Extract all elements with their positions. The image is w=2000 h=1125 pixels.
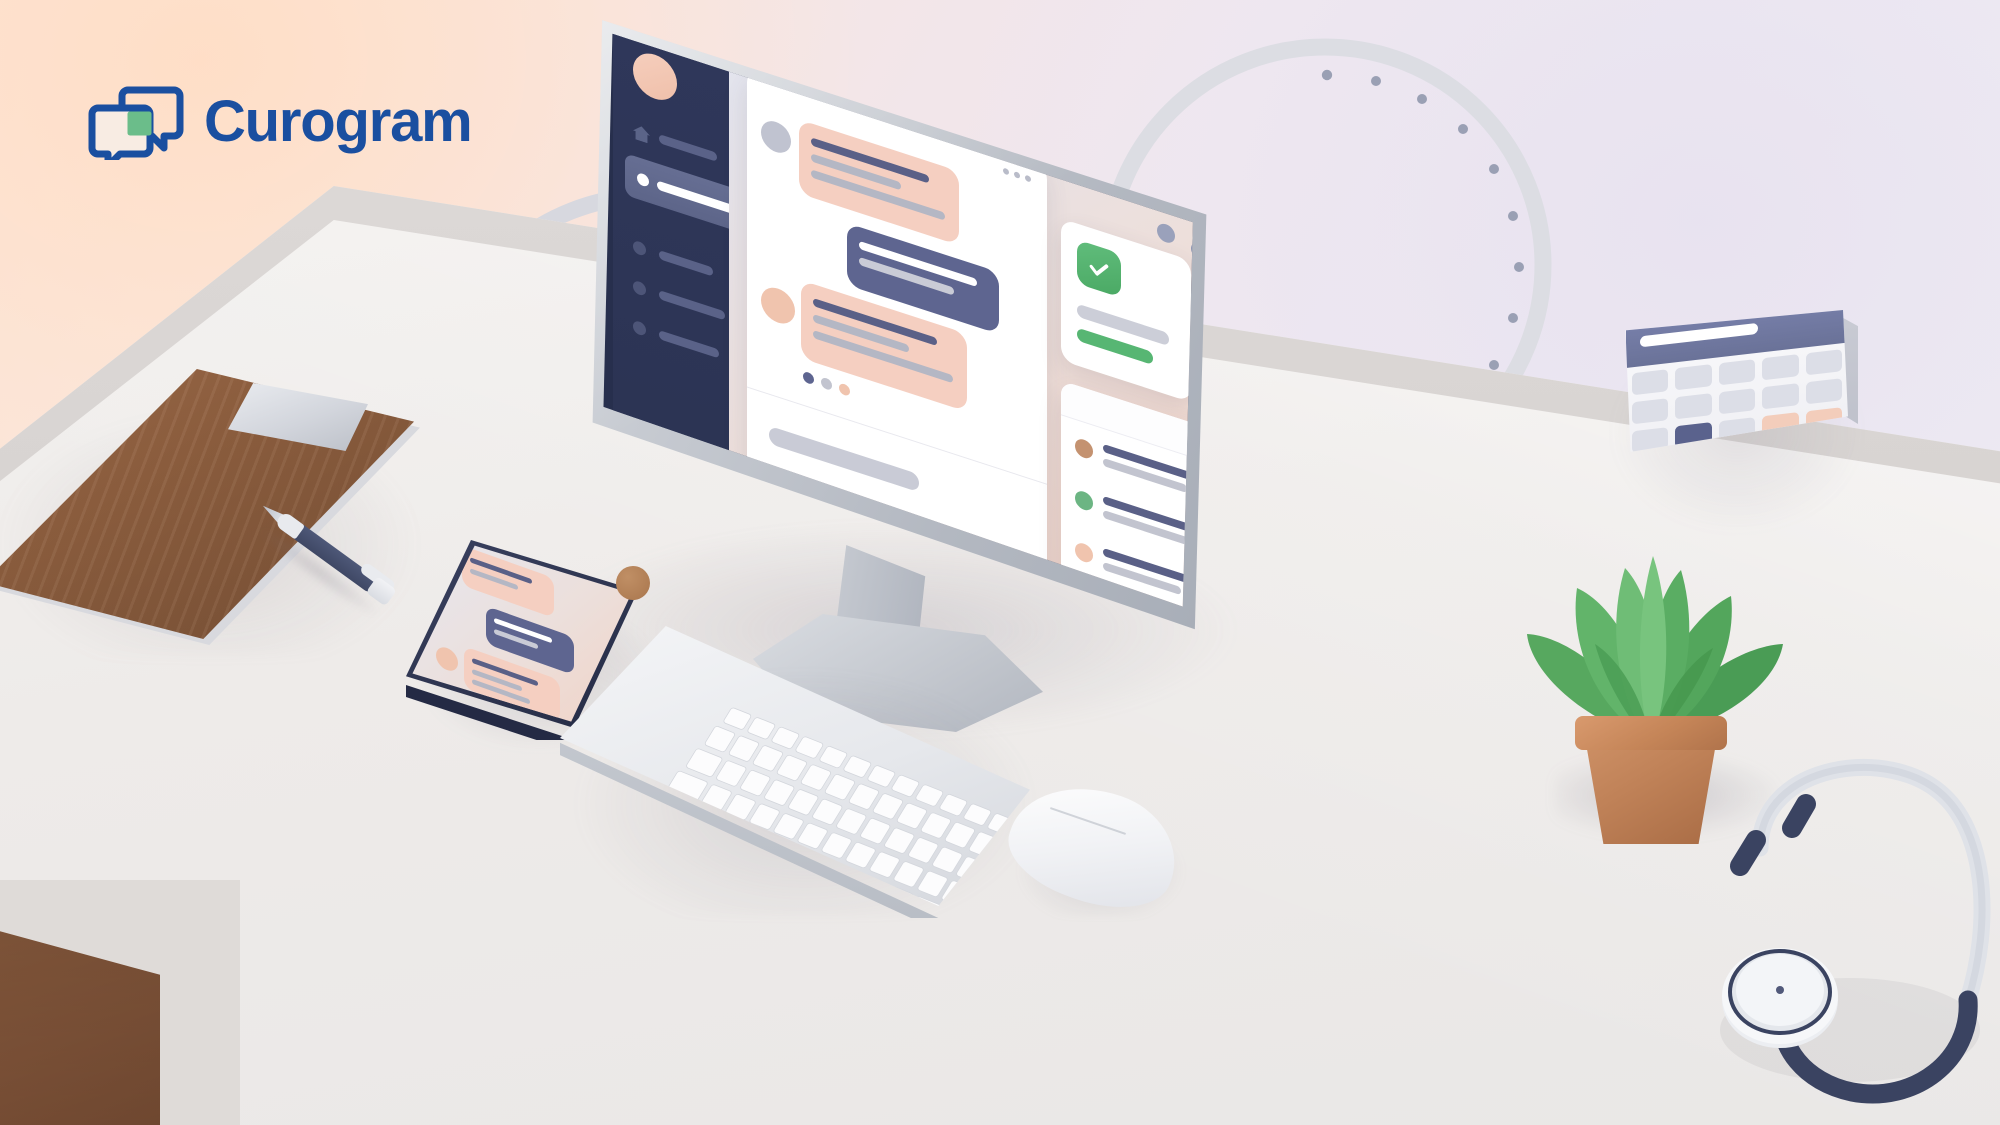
stethoscope bbox=[1700, 700, 2000, 1125]
home-icon[interactable] bbox=[633, 124, 650, 145]
chat-bubbles-icon bbox=[88, 84, 184, 160]
calendar-day-cell[interactable] bbox=[1719, 359, 1755, 385]
sidebar-item-label bbox=[657, 180, 735, 214]
calendar-day-cell[interactable] bbox=[1719, 388, 1755, 414]
floating-calendar[interactable] bbox=[1608, 310, 1868, 540]
app-sidebar[interactable] bbox=[613, 21, 729, 579]
calendar-day-cell[interactable] bbox=[1806, 378, 1842, 404]
sidebar-item-label bbox=[659, 290, 725, 320]
notification-badge bbox=[616, 566, 650, 600]
calendar-day-cell[interactable] bbox=[1675, 364, 1711, 390]
sidebar-item-label bbox=[659, 250, 713, 276]
calendar-day-cell[interactable] bbox=[1632, 398, 1668, 424]
sidebar-item-label bbox=[659, 134, 717, 162]
list-item-avatar bbox=[1075, 489, 1093, 513]
contact-avatar bbox=[761, 283, 795, 328]
keyboard[interactable] bbox=[560, 626, 1030, 916]
brand-logo: Curogram bbox=[88, 84, 472, 160]
contacts-icon[interactable] bbox=[633, 240, 646, 257]
desktop-monitor bbox=[583, 0, 1223, 700]
illustration-scene: Curogram bbox=[0, 0, 2000, 1125]
contact-avatar bbox=[436, 644, 458, 674]
calendar-title-placeholder bbox=[1640, 323, 1758, 348]
mouse[interactable] bbox=[1010, 790, 1185, 915]
settings-icon[interactable] bbox=[633, 320, 646, 337]
list-item-avatar bbox=[1075, 437, 1093, 461]
typing-dots bbox=[803, 371, 850, 397]
more-options-icon[interactable] bbox=[1003, 167, 1031, 182]
contact-avatar bbox=[438, 543, 456, 567]
message-bubble-incoming[interactable] bbox=[462, 545, 554, 618]
calendar-day-cell[interactable] bbox=[1632, 369, 1668, 395]
avatar[interactable] bbox=[633, 48, 677, 106]
calendar-icon[interactable] bbox=[633, 280, 646, 297]
messages-icon bbox=[637, 172, 649, 188]
document-card[interactable] bbox=[1211, 295, 1223, 478]
calendar-day-cell[interactable] bbox=[1762, 383, 1798, 409]
calendar-day-cell[interactable] bbox=[1762, 354, 1798, 380]
calendar-day-cell[interactable] bbox=[1806, 349, 1842, 375]
calendar-day-cell[interactable] bbox=[1675, 393, 1711, 419]
contact-avatar bbox=[761, 117, 791, 157]
brand-name: Curogram bbox=[204, 93, 472, 151]
status-dot bbox=[1205, 239, 1221, 260]
check-circle-icon bbox=[1077, 239, 1121, 297]
list-item-avatar bbox=[1075, 541, 1093, 565]
sidebar-item-label bbox=[659, 330, 719, 358]
